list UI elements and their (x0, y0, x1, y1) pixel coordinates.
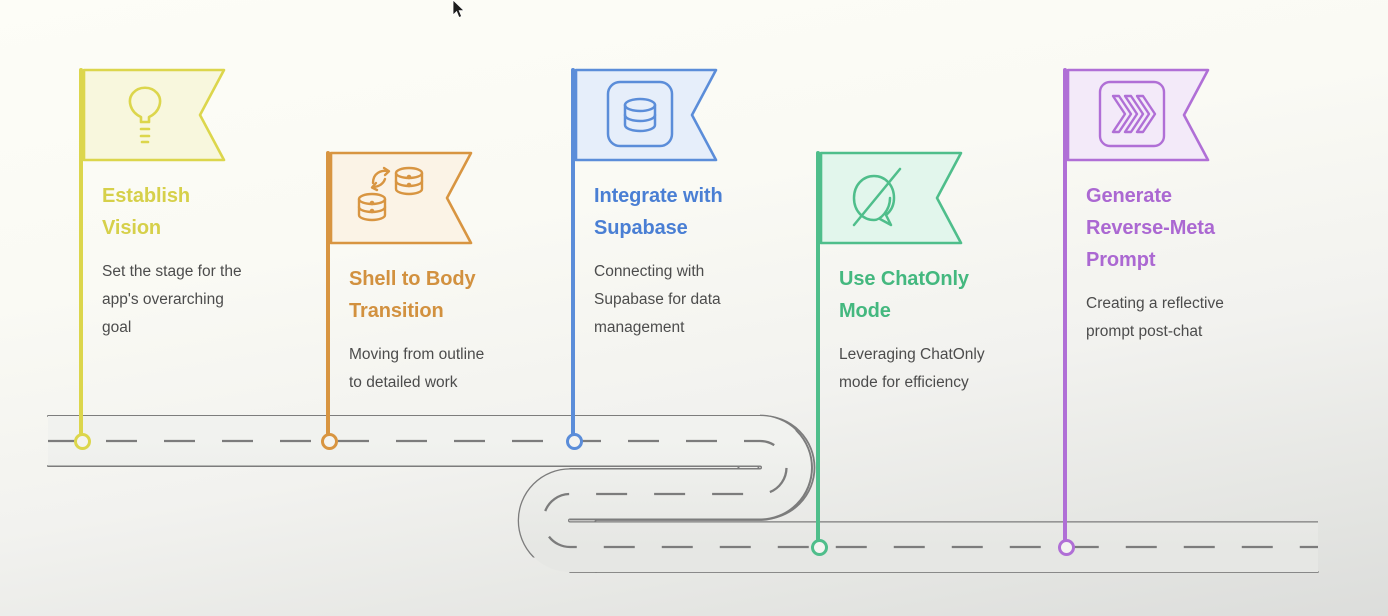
milestone-title: Establish Vision (102, 180, 190, 244)
milestone-title: Use ChatOnly Mode (839, 263, 969, 327)
milestone-description: Creating a reflective prompt post-chat (1086, 290, 1286, 346)
milestone-title: Integrate with Supabase (594, 180, 723, 244)
milestone-description: Leveraging ChatOnly mode for efficiency (839, 341, 1044, 397)
flag-banner (820, 151, 963, 245)
milestone-description: Set the stage for the app's overarching … (102, 258, 302, 342)
flag-banner (330, 151, 473, 245)
road-marker-integrate-with-supabase[interactable] (566, 433, 583, 450)
road-marker-shell-to-body-transition[interactable] (321, 433, 338, 450)
flag-banner (1067, 68, 1210, 162)
flag-banner (575, 68, 718, 162)
milestone-description: Moving from outline to detailed work (349, 341, 549, 397)
milestone-description: Connecting with Supabase for data manage… (594, 258, 794, 342)
road-marker-establish-vision[interactable] (74, 433, 91, 450)
milestone-title: Generate Reverse-Meta Prompt (1086, 180, 1215, 276)
flag-banner (83, 68, 226, 162)
mouse-pointer-icon (452, 0, 466, 20)
road-marker-use-chatonly-mode[interactable] (811, 539, 828, 556)
road-marker-generate-reverse-meta-prompt[interactable] (1058, 539, 1075, 556)
milestone-title: Shell to Body Transition (349, 263, 475, 327)
roadmap-diagram: Establish Vision Set the stage for the a… (0, 0, 1388, 616)
